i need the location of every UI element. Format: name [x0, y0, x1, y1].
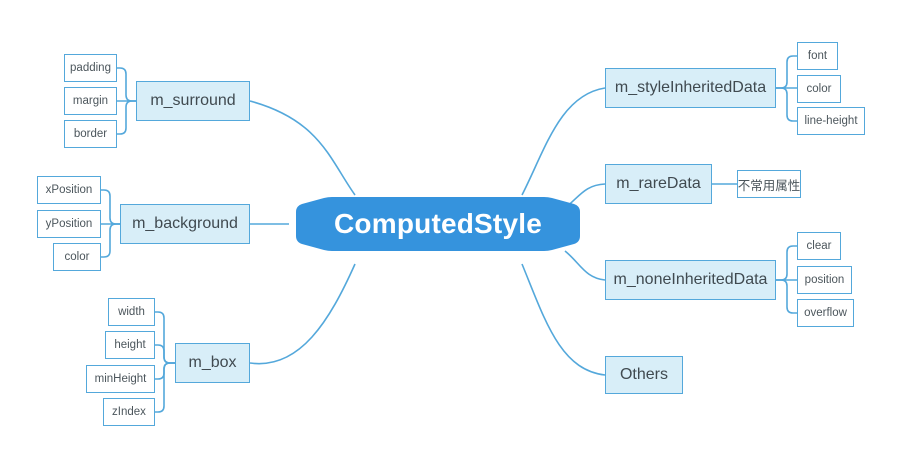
connector-root-to-m_styleInheritedData	[522, 88, 605, 195]
leaf-node-position[interactable]: position	[797, 266, 852, 294]
leaf-label-xposition: xPosition	[46, 184, 93, 196]
connector-m_styleInheritedData-trunk-font	[776, 56, 797, 88]
leaf-label-uncommon-attributes: 不常用属性	[738, 175, 801, 194]
branch-label-m_background: m_background	[132, 215, 238, 233]
leaf-node-minheight[interactable]: minHeight	[86, 365, 155, 393]
leaf-node-line-height[interactable]: line-height	[797, 107, 865, 135]
leaf-node-margin[interactable]: margin	[64, 87, 117, 115]
leaf-label-yposition: yPosition	[46, 218, 93, 230]
leaf-node-xposition[interactable]: xPosition	[37, 176, 101, 204]
branch-label-m_box: m_box	[188, 354, 236, 372]
leaf-label-minheight: minHeight	[95, 373, 147, 385]
leaf-node-padding[interactable]: padding	[64, 54, 117, 82]
connector-root-to-m_box	[250, 264, 355, 364]
leaf-label-height: height	[114, 339, 145, 351]
leaf-node-background-color[interactable]: color	[53, 243, 101, 271]
branch-node-others[interactable]: Others	[605, 356, 683, 394]
leaf-node-yposition[interactable]: yPosition	[37, 210, 101, 238]
leaf-label-font: font	[808, 50, 827, 62]
leaf-node-zindex[interactable]: zIndex	[103, 398, 155, 426]
leaf-label-line-height: line-height	[804, 115, 857, 127]
mindmap-canvas: ComputedStyle m_surround padding margin …	[0, 0, 900, 467]
leaf-node-clear[interactable]: clear	[797, 232, 841, 260]
connector-m_surround-trunk	[117, 68, 136, 101]
leaf-label-inherited-color: color	[807, 83, 832, 95]
leaf-label-background-color: color	[65, 251, 90, 263]
connector-m_background-trunk	[101, 190, 120, 224]
leaf-label-padding: padding	[70, 62, 111, 74]
connector-m_box-leaf-height	[155, 345, 175, 363]
branch-node-m_noneinheriteddata[interactable]: m_noneInheritedData	[605, 260, 776, 300]
leaf-label-clear: clear	[807, 240, 832, 252]
leaf-label-margin: margin	[73, 95, 108, 107]
root-node-computedstyle[interactable]: ComputedStyle	[288, 186, 588, 262]
connector-m_surround-leaf-border	[117, 101, 136, 134]
connector-m_noneInheritedData-trunk-clear	[776, 246, 797, 280]
branch-label-m_styleinheriteddata: m_styleInheritedData	[615, 79, 766, 97]
leaf-label-border: border	[74, 128, 107, 140]
connector-m_box-leaf-zIndex	[155, 363, 175, 412]
branch-node-m_surround[interactable]: m_surround	[136, 81, 250, 121]
leaf-label-zindex: zIndex	[112, 406, 146, 418]
branch-label-m_raredata: m_rareData	[616, 175, 700, 193]
connector-m_noneInheritedData-leaf-overflow	[776, 280, 797, 313]
branch-label-m_noneinheriteddata: m_noneInheritedData	[614, 271, 768, 289]
leaf-node-border[interactable]: border	[64, 120, 117, 148]
branch-label-m_surround: m_surround	[150, 92, 235, 110]
branch-label-others: Others	[620, 366, 668, 384]
leaf-node-uncommon-attributes[interactable]: 不常用属性	[737, 170, 801, 198]
connector-m_styleInheritedData-leaf-line-height	[776, 88, 797, 121]
leaf-node-overflow[interactable]: overflow	[797, 299, 854, 327]
leaf-label-width: width	[118, 306, 145, 318]
branch-node-m_background[interactable]: m_background	[120, 204, 250, 244]
branch-node-m_styleinheriteddata[interactable]: m_styleInheritedData	[605, 68, 776, 108]
root-node-label: ComputedStyle	[334, 208, 542, 240]
leaf-label-position: position	[805, 274, 845, 286]
leaf-label-overflow: overflow	[804, 307, 847, 319]
leaf-node-inherited-color[interactable]: color	[797, 75, 841, 103]
connector-m_background-leaf-color	[101, 224, 120, 257]
connector-m_box-trunk-width	[155, 312, 175, 363]
branch-node-m_box[interactable]: m_box	[175, 343, 250, 383]
leaf-node-height[interactable]: height	[105, 331, 155, 359]
connector-root-to-m_surround	[250, 101, 355, 195]
leaf-node-font[interactable]: font	[797, 42, 838, 70]
branch-node-m_raredata[interactable]: m_rareData	[605, 164, 712, 204]
leaf-node-width[interactable]: width	[108, 298, 155, 326]
connector-root-to-Others	[522, 264, 605, 375]
